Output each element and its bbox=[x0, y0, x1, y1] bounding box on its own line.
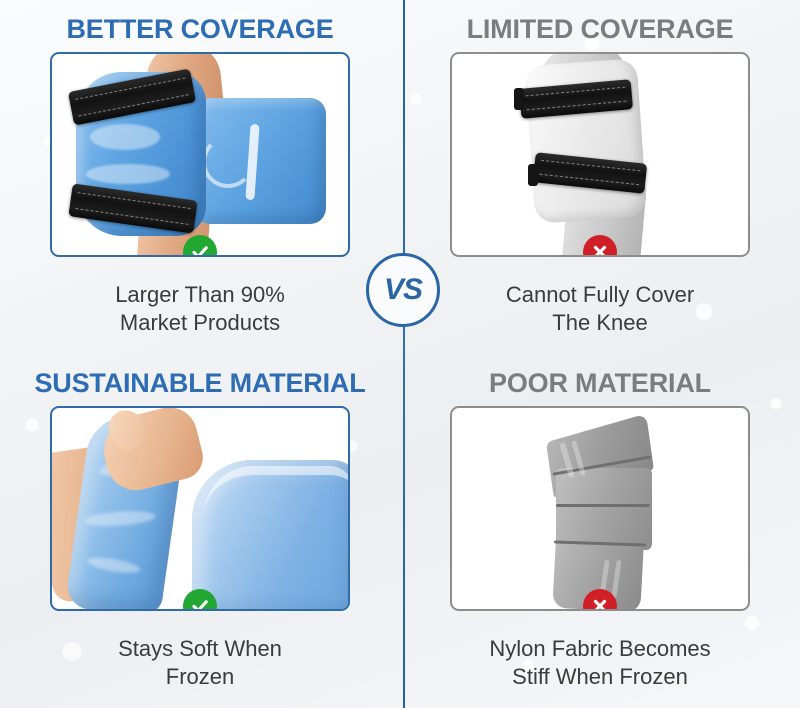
caption-line: Larger Than 90% bbox=[14, 281, 386, 309]
caption-line: The Knee bbox=[414, 309, 786, 337]
wrap-crease bbox=[90, 124, 160, 150]
caption-line: Frozen bbox=[14, 663, 386, 691]
strap-tab-upper bbox=[514, 88, 524, 110]
strap-tab-lower bbox=[528, 164, 538, 186]
gel-pad-rim-highlight bbox=[204, 466, 348, 515]
strap-stitching bbox=[525, 87, 626, 97]
wrap-crease bbox=[86, 164, 170, 184]
gel-fold bbox=[85, 509, 156, 528]
vs-label: VS bbox=[384, 275, 422, 305]
panel-caption-better-coverage: Larger Than 90% Market Products bbox=[0, 281, 400, 336]
caption-line: Nylon Fabric Becomes bbox=[414, 635, 786, 663]
panel-title-poor-material: POOR MATERIAL bbox=[400, 354, 800, 397]
photo-stiff-gray-nylon-knee-brace bbox=[452, 408, 748, 609]
photo-frame-better-coverage bbox=[50, 52, 350, 257]
panel-caption-poor-material: Nylon Fabric Becomes Stiff When Frozen bbox=[400, 635, 800, 690]
vs-circle-icon: VS bbox=[366, 253, 440, 327]
strap-stitching bbox=[539, 174, 639, 186]
photo-gray-small-knee-wrap-on-leg bbox=[452, 54, 748, 255]
panel-title-better-coverage: BETTER COVERAGE bbox=[0, 0, 400, 43]
panel-sustainable-material: SUSTAINABLE MATERIAL bbox=[0, 354, 400, 708]
photo-frame-poor-material bbox=[450, 406, 750, 611]
photo-frame-limited-coverage bbox=[450, 52, 750, 257]
panel-caption-sustainable-material: Stays Soft When Frozen bbox=[0, 635, 400, 690]
panel-limited-coverage: LIMITED COVERAGE bbox=[400, 0, 800, 354]
panel-caption-limited-coverage: Cannot Fully Cover The Knee bbox=[400, 281, 800, 336]
comparison-infographic: BETTER COVERAGE bbox=[0, 0, 800, 708]
panel-title-sustainable-material: SUSTAINABLE MATERIAL bbox=[0, 354, 400, 397]
photo-frame-sustainable-material bbox=[50, 406, 350, 611]
panel-better-coverage: BETTER COVERAGE bbox=[0, 0, 400, 354]
brace-seam bbox=[556, 504, 650, 507]
caption-line: Stiff When Frozen bbox=[414, 663, 786, 691]
strap-stitching bbox=[526, 101, 627, 111]
photo-hand-squeezing-soft-blue-gel-pack bbox=[52, 408, 348, 609]
brace-middle-body-shape bbox=[556, 468, 652, 550]
caption-line: Cannot Fully Cover bbox=[414, 281, 786, 309]
panel-title-limited-coverage: LIMITED COVERAGE bbox=[400, 0, 800, 43]
panel-poor-material: POOR MATERIAL Nylon Fabric B bbox=[400, 354, 800, 708]
strap-stitching bbox=[75, 78, 185, 100]
caption-line: Market Products bbox=[14, 309, 386, 337]
caption-line: Stays Soft When bbox=[14, 635, 386, 663]
photo-blue-gel-knee-wrap-on-leg bbox=[52, 54, 348, 255]
gel-fold bbox=[86, 555, 142, 576]
strap-stitching bbox=[541, 160, 641, 172]
